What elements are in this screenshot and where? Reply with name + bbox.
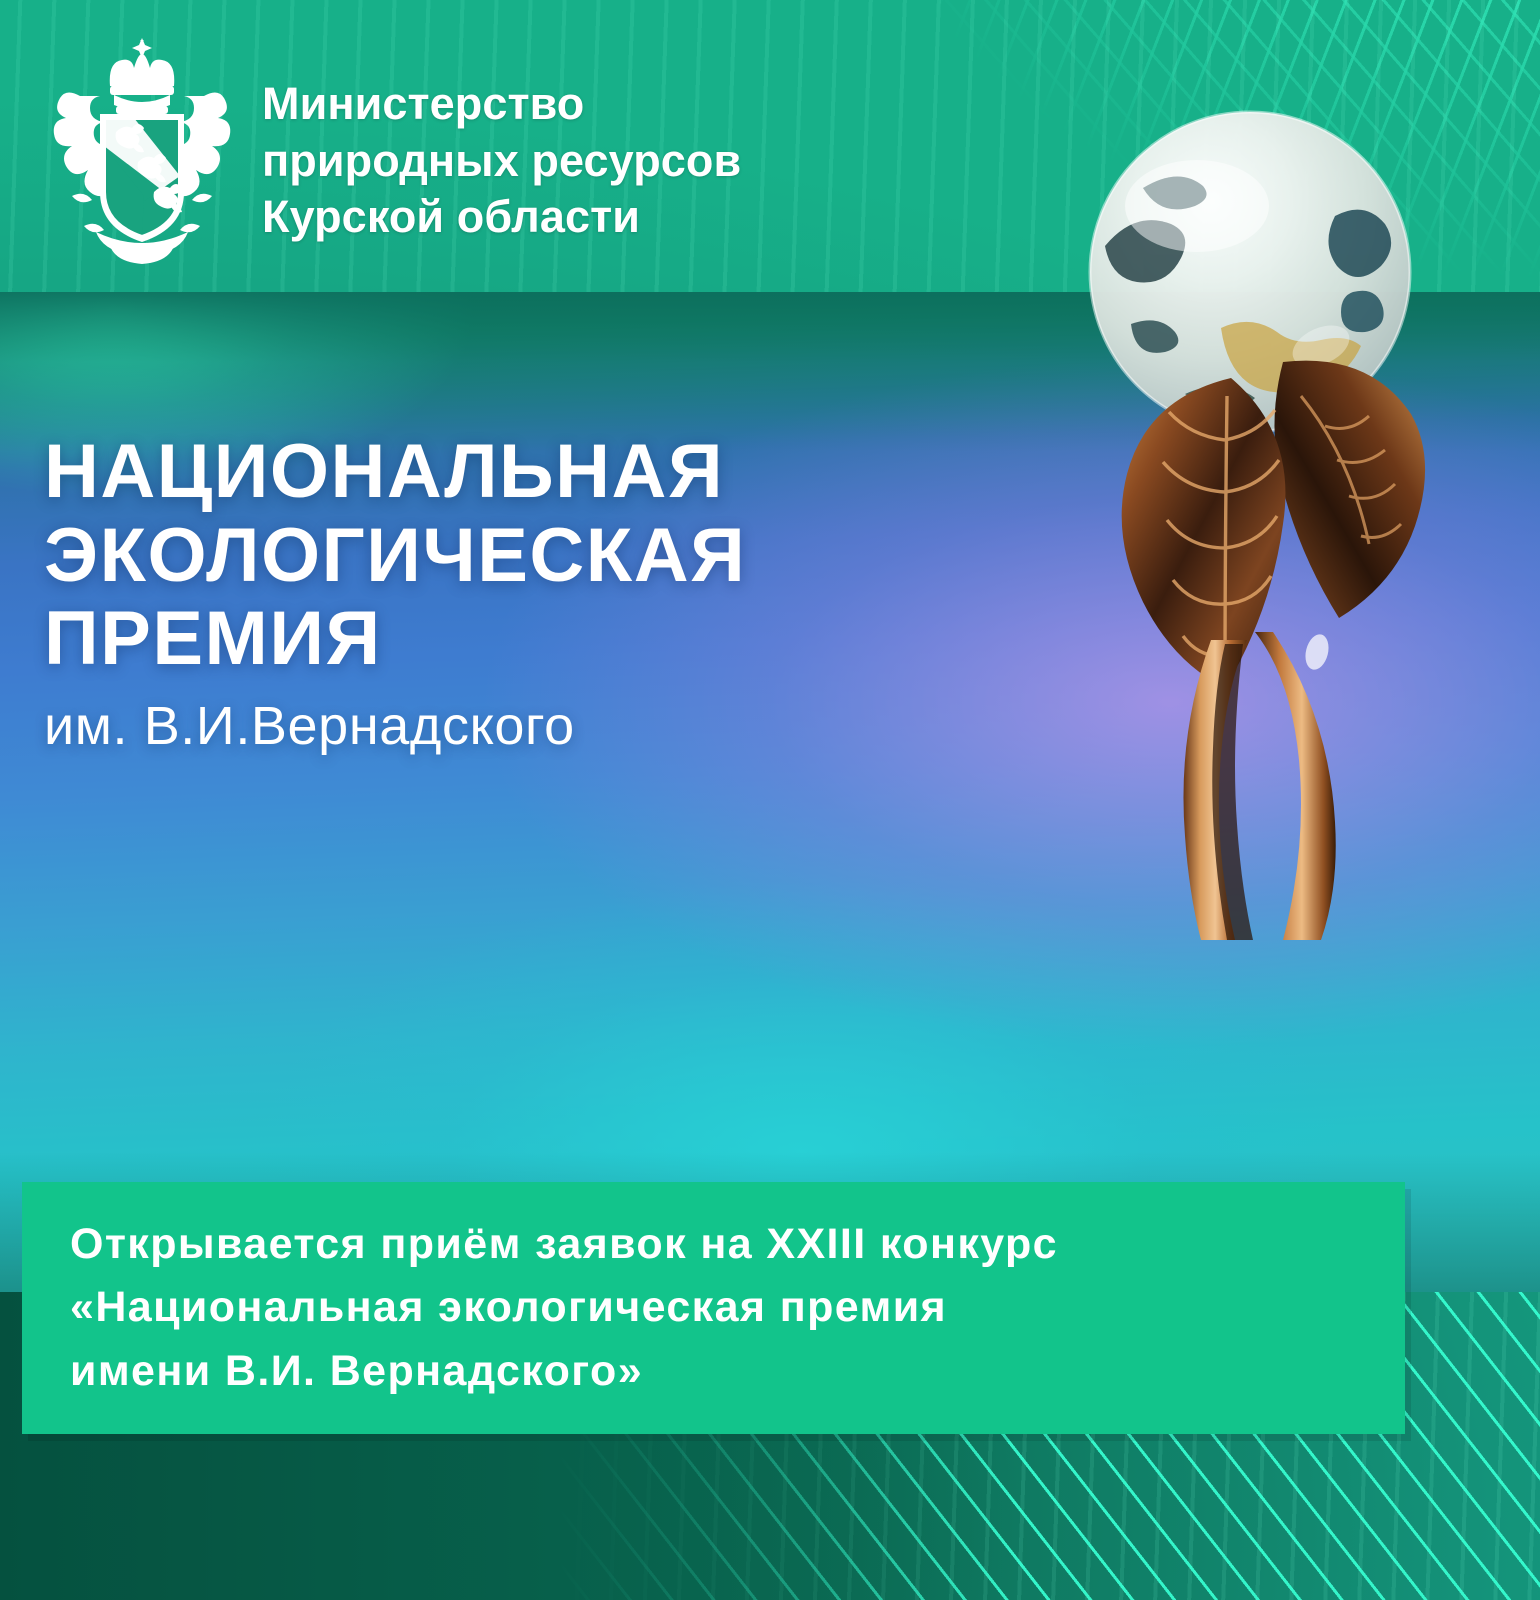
announcement-line-2: «Национальная экологическая премия — [70, 1276, 1058, 1340]
ministry-header: Министерство природных ресурсов Курской … — [0, 0, 1540, 318]
ministry-name-line-1: Министерство — [262, 76, 741, 133]
award-title-block: НАЦИОНАЛЬНАЯ ЭКОЛОГИЧЕСКАЯ ПРЕМИЯ им. В.… — [44, 430, 746, 756]
award-title-line-2: ЭКОЛОГИЧЕСКАЯ — [44, 514, 746, 598]
ministry-name-line-3: Курской области — [262, 189, 741, 246]
award-subtitle: им. В.И.Вернадского — [44, 697, 746, 756]
ministry-name: Министерство природных ресурсов Курской … — [262, 76, 741, 246]
announcement-banner: Открывается приём заявок на XXIII конкур… — [22, 1182, 1405, 1434]
ministry-name-line-2: природных ресурсов — [262, 133, 741, 190]
announcement-line-1: Открывается приём заявок на XXIII конкур… — [70, 1213, 1058, 1277]
kursk-oblast-coat-of-arms-icon — [44, 36, 240, 284]
award-title: НАЦИОНАЛЬНАЯ ЭКОЛОГИЧЕСКАЯ ПРЕМИЯ — [44, 430, 746, 681]
promo-poster: НАЦИОНАЛЬНАЯ ЭКОЛОГИЧЕСКАЯ ПРЕМИЯ им. В.… — [0, 0, 1540, 1600]
announcement-text: Открывается приём заявок на XXIII конкур… — [22, 1213, 1092, 1404]
award-title-line-1: НАЦИОНАЛЬНАЯ — [44, 430, 746, 514]
award-title-line-3: ПРЕМИЯ — [44, 597, 746, 681]
announcement-line-3: имени В.И. Вернадского» — [70, 1340, 1058, 1404]
